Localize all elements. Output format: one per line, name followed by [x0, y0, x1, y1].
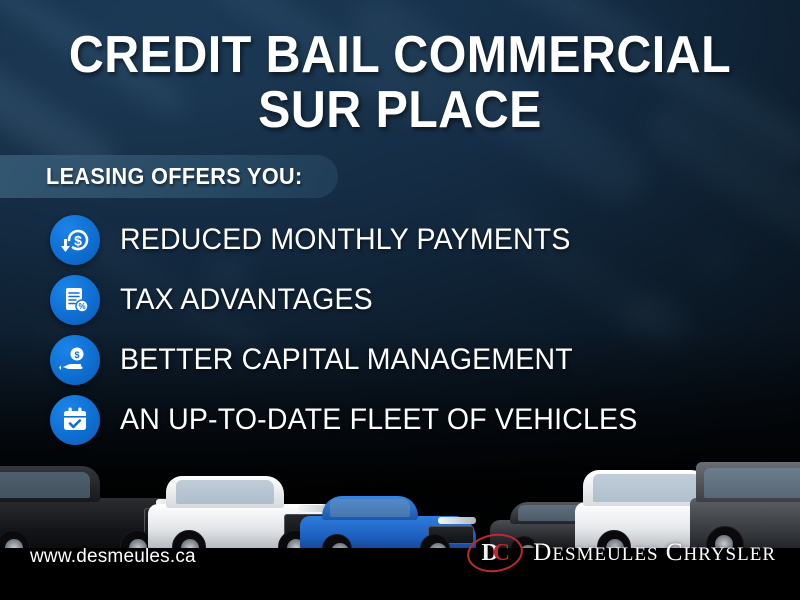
svg-text:$: $: [74, 350, 79, 360]
list-item: % TAX ADVANTAGES: [50, 270, 750, 330]
dc-monogram-icon: DC: [467, 534, 523, 572]
website-url[interactable]: www.desmeules.ca: [30, 546, 196, 568]
svg-text:%: %: [78, 302, 85, 311]
svg-text:$: $: [74, 233, 82, 249]
logo-word-desmeules-rest: ESMEULES: [552, 544, 658, 565]
logo-word-chrysler-rest: HRYSLER: [683, 544, 776, 565]
headline-line-1: CREDIT BAIL COMMERCIAL: [69, 26, 731, 84]
list-item: $ BETTER CAPITAL MANAGEMENT: [50, 330, 750, 390]
money-down-arrow-icon: $: [50, 215, 100, 265]
leasing-offers-banner: LEASING OFFERS YOU:: [0, 155, 338, 198]
monogram-c: C: [493, 540, 509, 567]
benefit-label: BETTER CAPITAL MANAGEMENT: [120, 343, 573, 377]
dealer-name: DESMEULES CHRYSLER: [533, 539, 776, 567]
leasing-offers-label: LEASING OFFERS YOU:: [46, 163, 303, 190]
headline-line-2: SUR PLACE: [28, 83, 772, 138]
document-percent-icon: %: [50, 275, 100, 325]
logo-word-chrysler-cap: C: [666, 539, 684, 566]
hand-holding-coin-icon: $: [50, 335, 100, 385]
logo-word-desmeules-cap: D: [533, 539, 552, 566]
dealer-logo[interactable]: DC DESMEULES CHRYSLER: [467, 534, 776, 572]
list-item: $ REDUCED MONTHLY PAYMENTS: [50, 210, 750, 270]
page-title: CREDIT BAIL COMMERCIAL SUR PLACE: [28, 28, 772, 138]
logo-monogram-letters: DC: [467, 534, 523, 572]
benefit-label: TAX ADVANTAGES: [120, 283, 373, 317]
benefit-label: REDUCED MONTHLY PAYMENTS: [120, 223, 571, 257]
advertisement-banner: CREDIT BAIL COMMERCIAL SUR PLACE LEASING…: [0, 0, 800, 600]
